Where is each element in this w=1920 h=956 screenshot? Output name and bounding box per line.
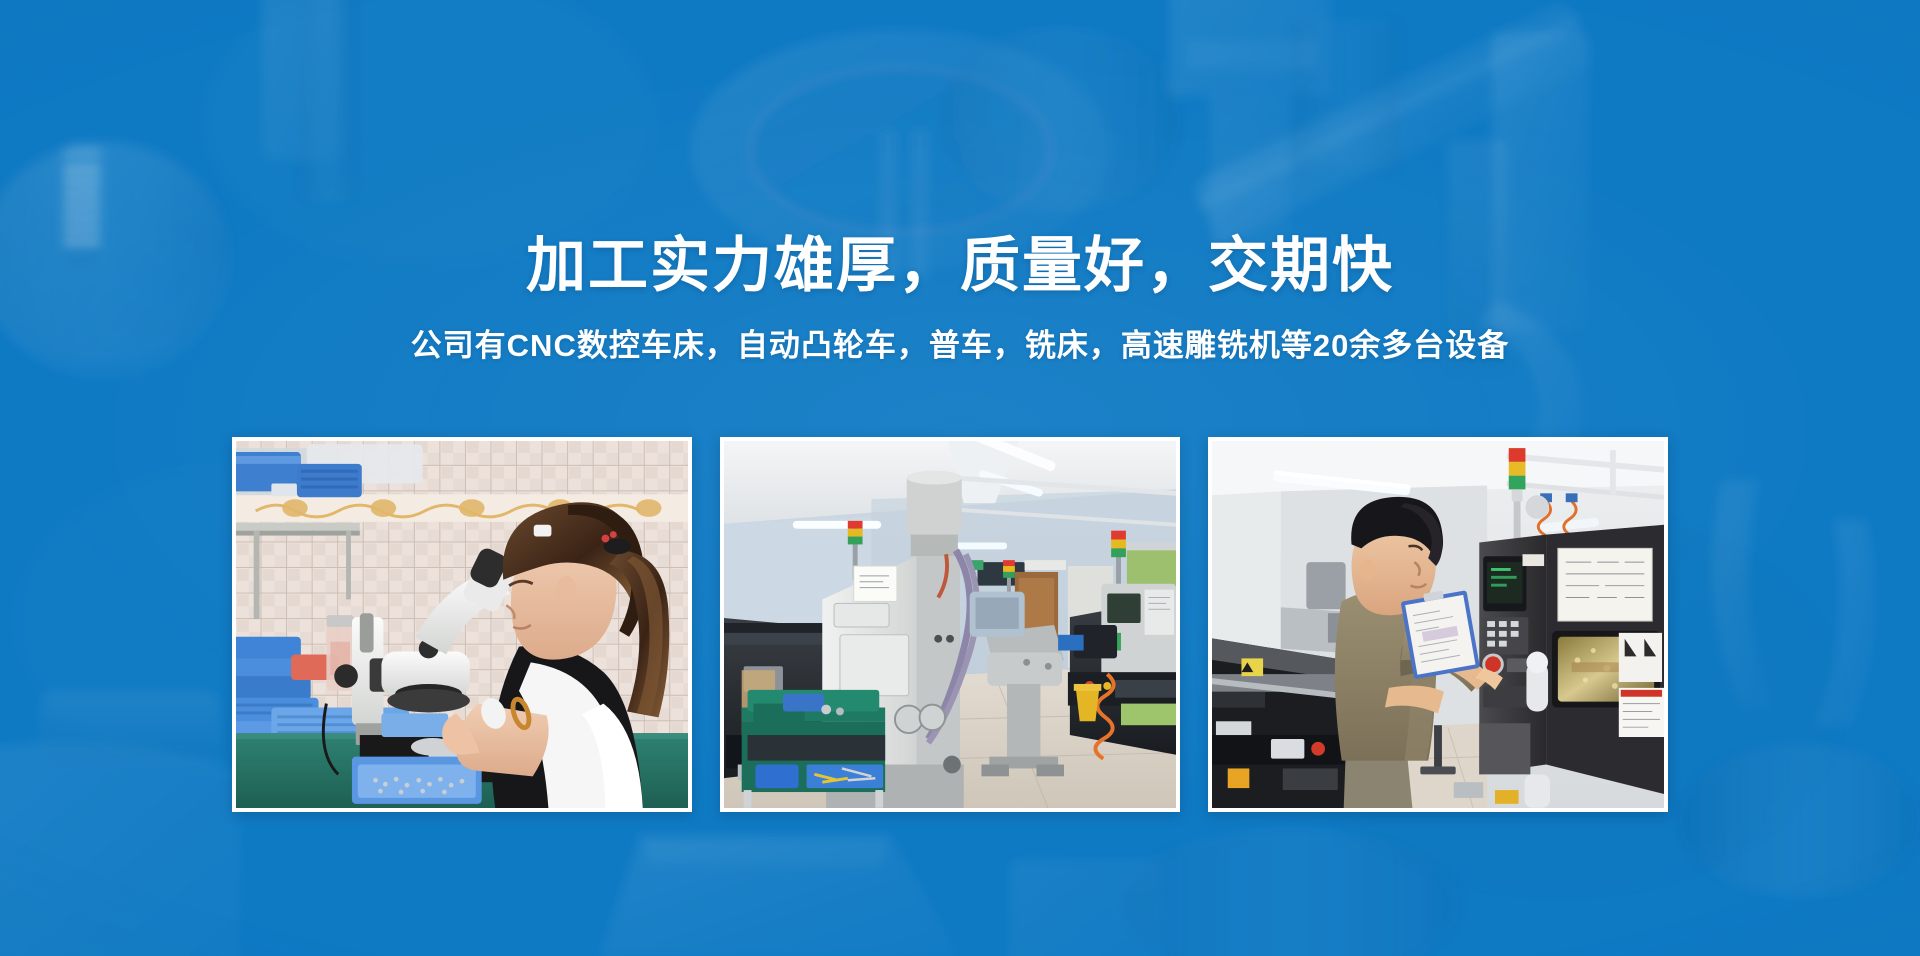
page-subtitle: 公司有CNC数控车床，自动凸轮车，普车，铣床，高速雕铣机等20余多台设备	[0, 327, 1920, 364]
photo-machine-operator[interactable]	[1208, 437, 1668, 812]
photo-cnc-workshop[interactable]	[720, 437, 1180, 812]
promo-banner: 加工实力雄厚，质量好，交期快 公司有CNC数控车床，自动凸轮车，普车，铣床，高速…	[0, 0, 1920, 956]
page-title: 加工实力雄厚，质量好，交期快	[0, 232, 1920, 299]
photo-microscope-inspection[interactable]	[232, 437, 692, 812]
photo-gallery	[232, 437, 1668, 812]
banner-copy: 加工实力雄厚，质量好，交期快 公司有CNC数控车床，自动凸轮车，普车，铣床，高速…	[0, 232, 1920, 364]
